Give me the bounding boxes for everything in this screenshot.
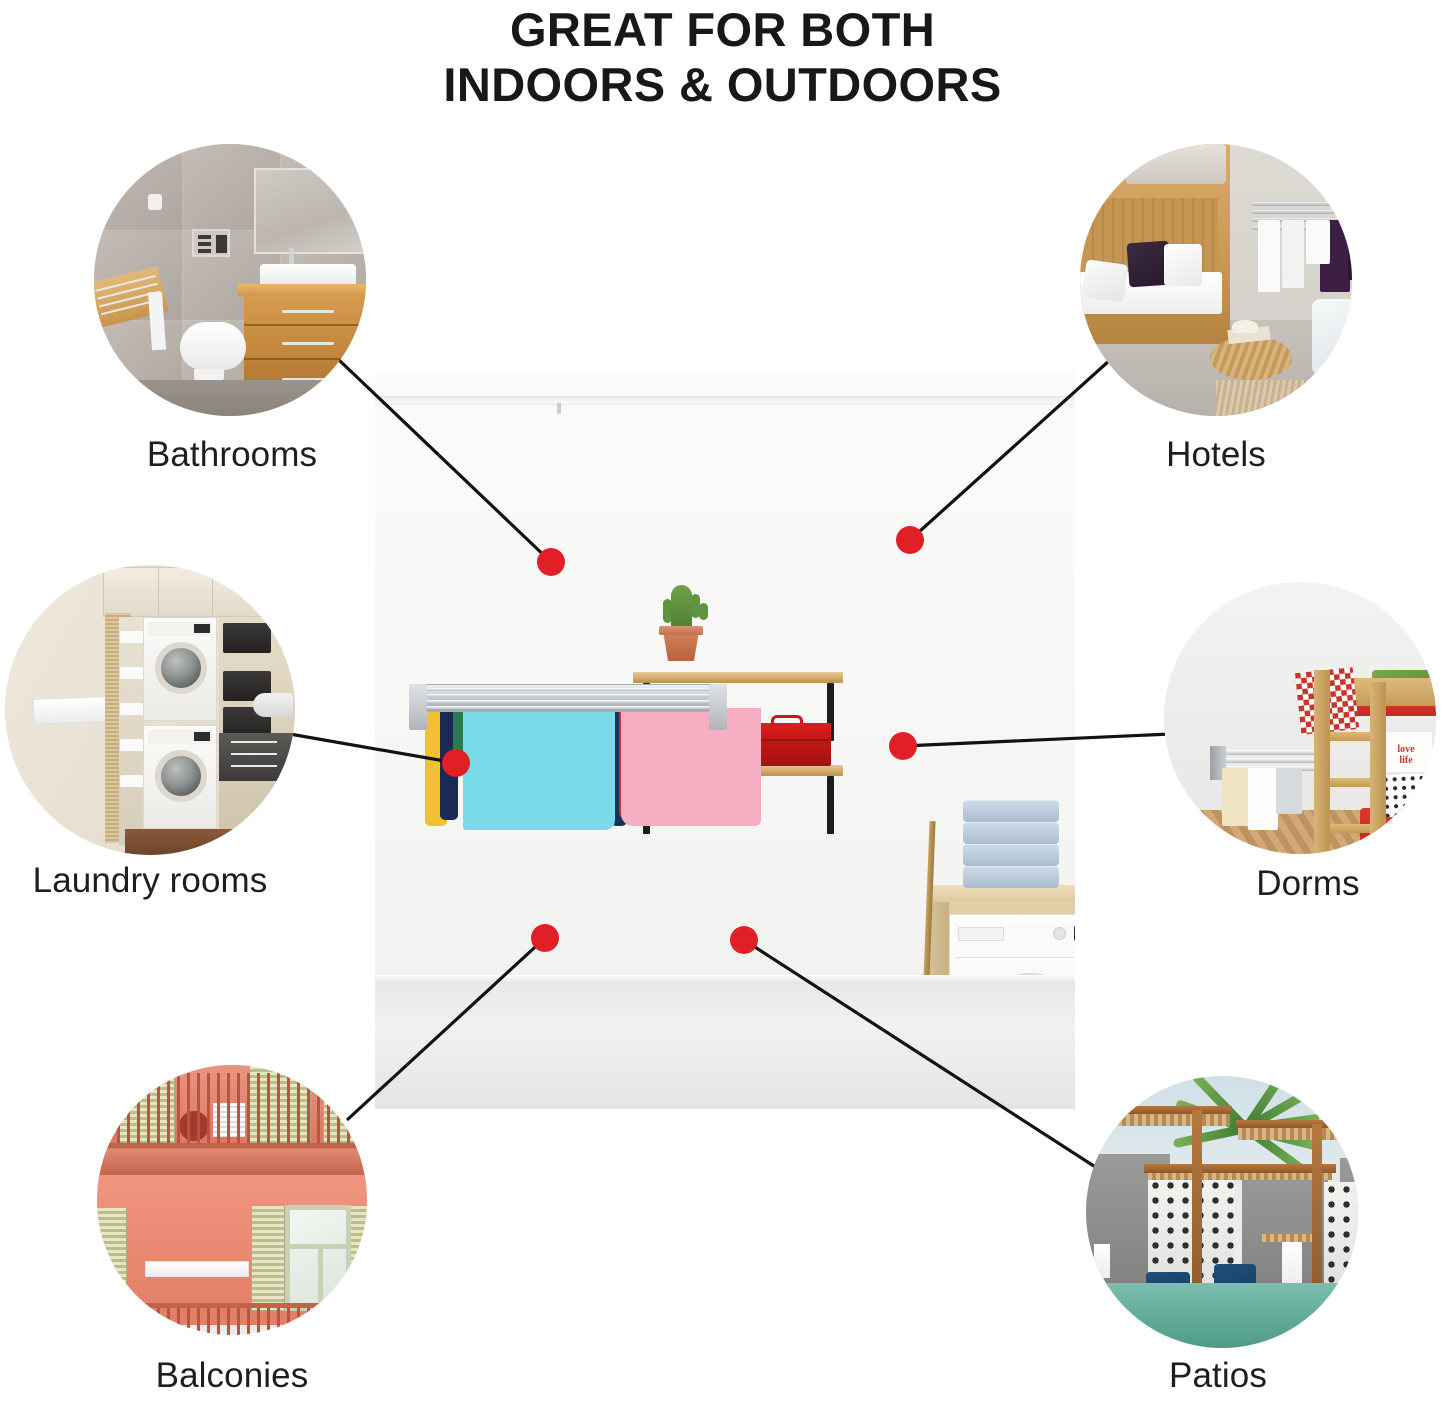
towel-gray xyxy=(1276,768,1302,814)
thumbnail-bathrooms[interactable] xyxy=(94,144,366,416)
caption-balconies: Balconies xyxy=(12,1356,452,1396)
balcony-scene xyxy=(97,1065,367,1335)
marker-dot-laundry-rooms[interactable] xyxy=(442,749,470,777)
patterned-pillow xyxy=(1381,773,1436,818)
connector-line-laundry-rooms xyxy=(284,733,456,763)
wood-floor xyxy=(125,829,295,855)
dorm-drying-rack xyxy=(1214,750,1318,770)
thumbnail-balconies[interactable] xyxy=(97,1065,367,1335)
laundry-room-scene xyxy=(5,565,295,855)
straw-hat xyxy=(1232,320,1258,333)
ladder-rail xyxy=(1314,670,1330,854)
towel-white xyxy=(1282,220,1304,288)
bathroom-scene xyxy=(94,144,366,416)
clothes-iron xyxy=(253,693,293,717)
marker-dot-balconies[interactable] xyxy=(531,924,559,952)
flush-control-panel xyxy=(192,229,230,257)
pergola-beam xyxy=(1126,1106,1232,1114)
floor-pillow xyxy=(1312,299,1352,375)
thumbnail-laundry-rooms[interactable] xyxy=(5,565,295,855)
green-cushion xyxy=(1432,772,1436,816)
ladder-rail xyxy=(1370,682,1386,854)
marker-dot-dorms[interactable] xyxy=(889,732,917,760)
towel-purple xyxy=(1348,220,1352,280)
poster-line-1: love xyxy=(1397,744,1414,755)
washing-machine xyxy=(143,725,217,829)
thumbnail-dorms[interactable]: love life xyxy=(1164,582,1436,854)
caption-patios: Patios xyxy=(998,1356,1438,1396)
pillow-white xyxy=(1082,259,1129,302)
towel-white xyxy=(1248,768,1278,830)
upper-cabinets xyxy=(103,567,265,617)
bathroom-floor xyxy=(94,380,366,416)
caption-hotels: Hotels xyxy=(996,435,1436,475)
marker-dot-hotels[interactable] xyxy=(896,526,924,554)
thumbnail-hotels[interactable] xyxy=(1080,144,1352,416)
towel-white xyxy=(1258,220,1280,292)
patio-scene xyxy=(1086,1076,1358,1348)
linen-shelves xyxy=(119,617,145,845)
wall-hung-toilet xyxy=(180,322,246,370)
poster-line-2: life xyxy=(1399,755,1412,766)
drawer-unit xyxy=(219,733,293,781)
caption-dorms: Dorms xyxy=(1088,864,1445,904)
dryer xyxy=(143,617,217,721)
woven-pouf xyxy=(1210,336,1292,380)
storage-basket xyxy=(223,623,271,653)
caption-laundry-rooms: Laundry rooms xyxy=(0,861,370,901)
balcony-railing xyxy=(97,1073,367,1147)
connector-line-dorms xyxy=(903,734,1170,746)
connector-line-patios xyxy=(744,940,1100,1170)
infographic-canvas: GREAT FOR BOTH INDOORS & OUTDOORS xyxy=(0,0,1445,1406)
connector-line-balconies xyxy=(347,938,545,1120)
woven-rug xyxy=(1216,380,1352,416)
lower-railing xyxy=(97,1307,367,1335)
pillow-white xyxy=(1164,244,1202,286)
wall-mounted-product xyxy=(145,1261,249,1277)
hanging-towel xyxy=(1282,1240,1302,1286)
hotel-scene xyxy=(1080,144,1352,416)
soap-dispenser xyxy=(148,194,162,210)
caption-bathrooms: Bathrooms xyxy=(12,435,452,475)
love-life-poster: love life xyxy=(1378,730,1434,774)
thumbnail-patios[interactable] xyxy=(1086,1076,1358,1348)
pergola-beam xyxy=(1236,1120,1358,1128)
marker-dot-bathrooms[interactable] xyxy=(537,548,565,576)
towel-cream xyxy=(1222,768,1250,826)
top-bunk-bedding xyxy=(1126,144,1226,184)
swimming-pool xyxy=(1086,1283,1358,1348)
towel-white xyxy=(1306,220,1330,264)
bathroom-mirror xyxy=(254,168,366,254)
balcony-window xyxy=(285,1205,351,1311)
dorm-scene: love life xyxy=(1164,582,1436,854)
patio-drying-rack xyxy=(1262,1234,1312,1242)
pergola-beam xyxy=(1144,1164,1336,1173)
marker-dot-patios[interactable] xyxy=(730,926,758,954)
hanging-towel xyxy=(1094,1244,1110,1278)
